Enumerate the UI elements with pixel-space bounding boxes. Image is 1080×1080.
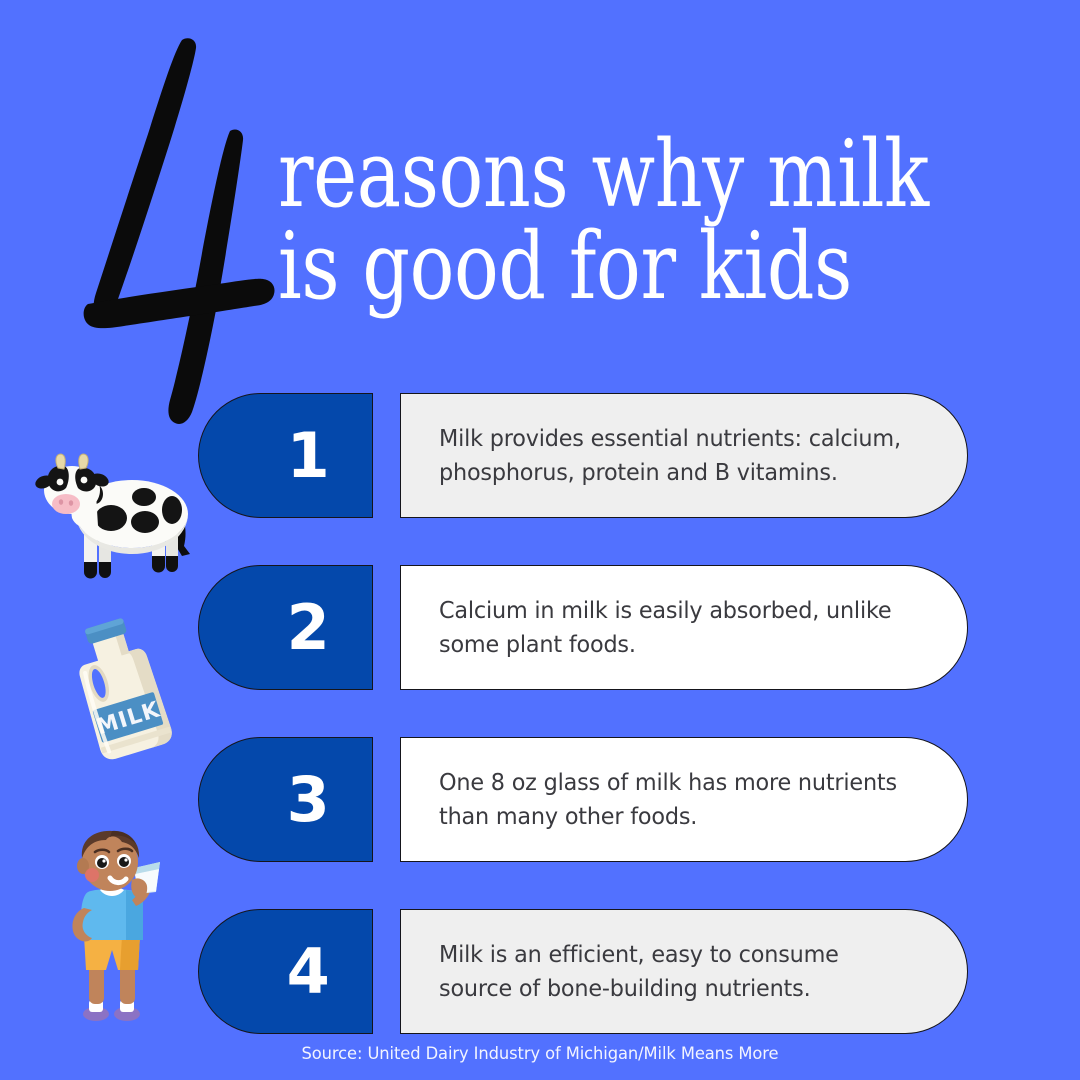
reason-badge-1: 1 — [198, 393, 373, 518]
reason-number: 1 — [241, 425, 331, 487]
hero-numeral-4 — [78, 18, 308, 438]
page-title: reasons why milk is good for kids — [278, 128, 1018, 312]
list-item: 2 Calcium in milk is easily absorbed, un… — [0, 565, 1080, 690]
reason-badge-4: 4 — [198, 909, 373, 1034]
reason-number: 4 — [241, 941, 331, 1003]
reason-panel-4: Milk is an efficient, easy to consume so… — [400, 909, 968, 1034]
list-item: 4 Milk is an efficient, easy to consume … — [0, 909, 1080, 1034]
reason-text: One 8 oz glass of milk has more nutrient… — [401, 766, 939, 833]
reason-panel-1: Milk provides essential nutrients: calci… — [400, 393, 968, 518]
reason-panel-3: One 8 oz glass of milk has more nutrient… — [400, 737, 968, 862]
reason-text: Calcium in milk is easily absorbed, unli… — [401, 594, 939, 661]
headline-line-1: reasons why milk — [278, 128, 870, 220]
source-credit: Source: United Dairy Industry of Michiga… — [22, 1044, 1059, 1064]
reason-badge-2: 2 — [198, 565, 373, 690]
reason-number: 3 — [241, 769, 331, 831]
reason-text: Milk is an efficient, easy to consume so… — [401, 938, 939, 1005]
infographic-poster: reasons why milk is good for kids — [0, 0, 1080, 1080]
reason-badge-3: 3 — [198, 737, 373, 862]
list-item: 3 One 8 oz glass of milk has more nutrie… — [0, 737, 1080, 862]
headline-line-2: is good for kids — [278, 220, 870, 312]
reasons-list: 1 Milk provides essential nutrients: cal… — [0, 393, 1080, 1080]
reason-text: Milk provides essential nutrients: calci… — [401, 422, 939, 489]
reason-number: 2 — [241, 597, 331, 659]
reason-panel-2: Calcium in milk is easily absorbed, unli… — [400, 565, 968, 690]
list-item: 1 Milk provides essential nutrients: cal… — [0, 393, 1080, 518]
